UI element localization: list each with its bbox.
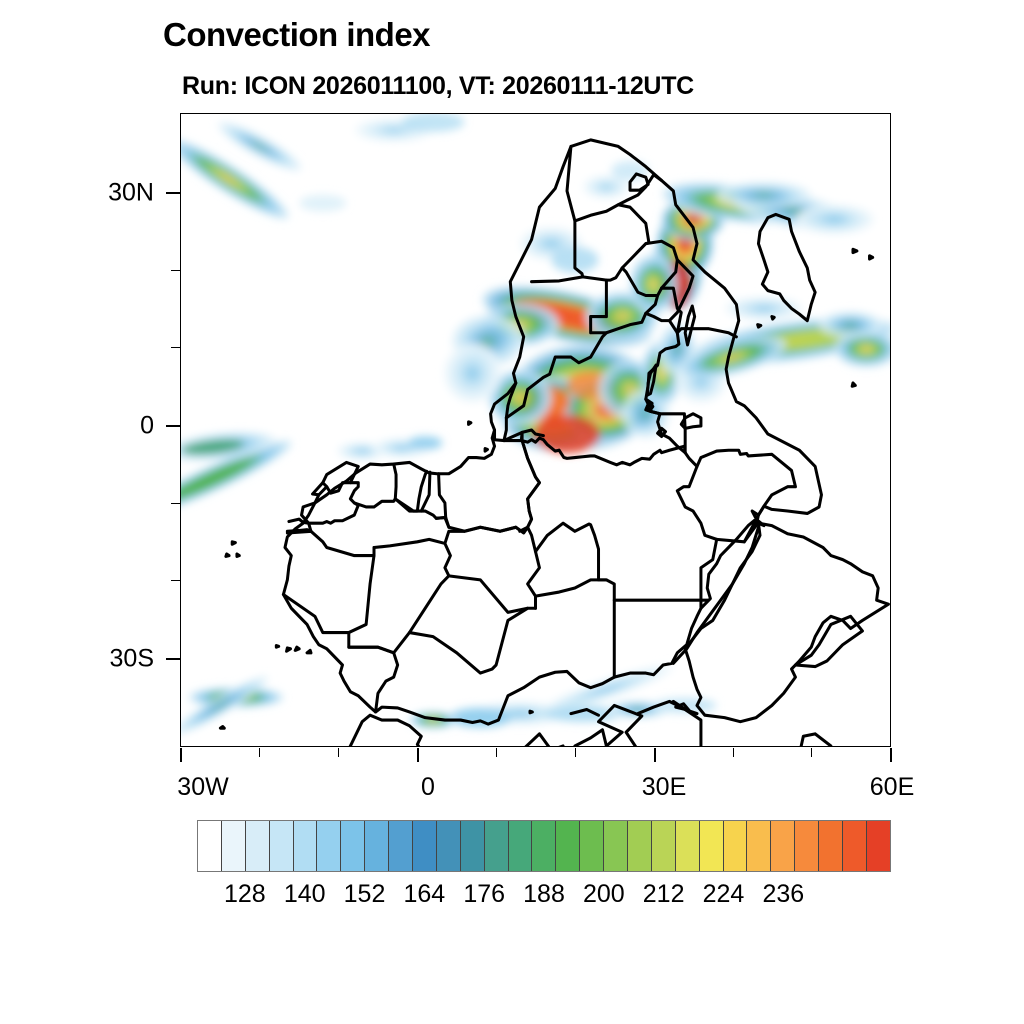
colorbar-swatch-27 [843,821,867,871]
canary-island-1 [295,647,299,650]
cape-verde-1 [232,542,235,544]
arabian-peninsula-coastline [685,523,888,722]
cape-verde-3 [237,554,239,556]
ghana-togo-border [395,471,427,511]
egypt-sudan-chad-border [536,523,615,677]
y-tick-10s [171,503,180,504]
y-tick-30s [166,658,180,660]
colorbar-swatch-19 [652,821,676,871]
colorbar-swatch-24 [771,821,795,871]
colorbar-swatch-21 [700,821,724,871]
y-tick-20s [171,580,180,581]
colorbar-swatch-9 [413,821,437,871]
x-tick-0 [417,748,419,762]
benin-nigeria-border [436,474,445,519]
colorbar-swatch-26 [819,821,843,871]
canary-island-3 [307,650,311,652]
x-tick-40e [733,748,734,757]
colorbar-swatch-15 [556,821,580,871]
colorbar-label-152: 152 [344,880,386,909]
guinea-border [302,483,359,524]
x-axis-label-30e: 30E [642,773,686,802]
y-axis-label-30n: 30N [44,179,154,208]
persian-gulf-coastline [795,616,862,666]
colorbar-swatch-14 [532,821,556,871]
canary-island-2 [287,648,291,651]
y-tick-0 [166,425,180,427]
colorbar-swatch-17 [604,821,628,871]
colorbar-label-200: 200 [583,880,625,909]
x-axis-label-30w: 30W [177,773,228,802]
colorbar-swatch-25 [795,821,819,871]
x-tick-10e [496,748,497,757]
comoros-1 [758,325,761,327]
x-axis-label-60e: 60E [870,773,914,802]
mayotte [772,317,774,319]
colorbar [197,820,891,872]
x-axis-label-0: 0 [421,773,435,802]
seychelles [852,383,855,386]
y-tick-20n [171,270,180,271]
canary-island-4 [276,646,278,648]
niger-libya-border [449,576,528,612]
gambia-border [287,530,311,532]
azores-island [220,727,224,729]
reunion [853,249,857,252]
colorbar-label-212: 212 [643,880,685,909]
colorbar-swatch-0 [198,821,222,871]
y-axis-label-30s: 30S [44,645,154,674]
colorbar-label-128: 128 [224,880,266,909]
italy-coastline [480,734,563,746]
morocco-wsahara-border [283,594,397,711]
colorbar-swatch-11 [461,821,485,871]
colorbar-swatch-20 [676,821,700,871]
lesotho-border [630,174,648,190]
x-tick-60e [890,748,892,762]
sudan-ethiopia-border [677,446,716,608]
sao-tome [469,422,471,424]
colorbar-swatch-3 [270,821,294,871]
colorbar-swatch-12 [485,821,509,871]
colorbar-swatch-13 [509,821,533,871]
colorbar-swatch-7 [365,821,389,871]
colorbar-label-224: 224 [703,880,745,909]
malta [530,711,532,713]
colorbar-label-140: 140 [284,880,326,909]
colorbar-swatch-6 [341,821,365,871]
liberia-border [323,462,358,482]
colorbar-label-236: 236 [762,880,804,909]
colorbar-swatch-18 [628,821,652,871]
colorbar-label-176: 176 [463,880,505,909]
colorbar-swatch-28 [867,821,890,871]
x-tick-50e [811,748,812,757]
caspian-sea-coastline [792,734,835,746]
x-tick-20w [259,748,260,757]
colorbar-swatch-16 [580,821,604,871]
convection-index-figure: Convection index Run: ICON 2026011100, V… [0,0,1024,1024]
colorbar-swatch-2 [246,821,270,871]
colorbar-label-164: 164 [403,880,445,909]
colorbar-swatch-1 [222,821,246,871]
x-tick-30e [654,748,656,762]
cape-verde-2 [226,554,229,556]
colorbar-swatch-4 [294,821,318,871]
libya-chad-border [536,580,607,596]
y-axis-label-0: 0 [44,412,154,441]
x-tick-20e [575,748,576,757]
senegal-border [287,531,374,555]
map-canvas [181,114,890,746]
colorbar-swatch-5 [317,821,341,871]
colorbar-swatch-8 [389,821,413,871]
y-tick-10n [171,347,180,348]
mauritius [870,256,873,259]
map-plot-area [180,113,891,747]
colorbar-swatch-22 [724,821,748,871]
colorbar-swatch-10 [437,821,461,871]
page-title: Convection index [163,16,430,54]
x-tick-30w [180,748,182,762]
x-tick-10w [338,748,339,757]
bioko [485,449,487,451]
run-valid-time-subtitle: Run: ICON 2026011100, VT: 20260111-12UTC [182,72,694,101]
colorbar-label-188: 188 [523,880,565,909]
y-tick-30n [166,192,180,194]
colorbar-swatch-23 [747,821,771,871]
